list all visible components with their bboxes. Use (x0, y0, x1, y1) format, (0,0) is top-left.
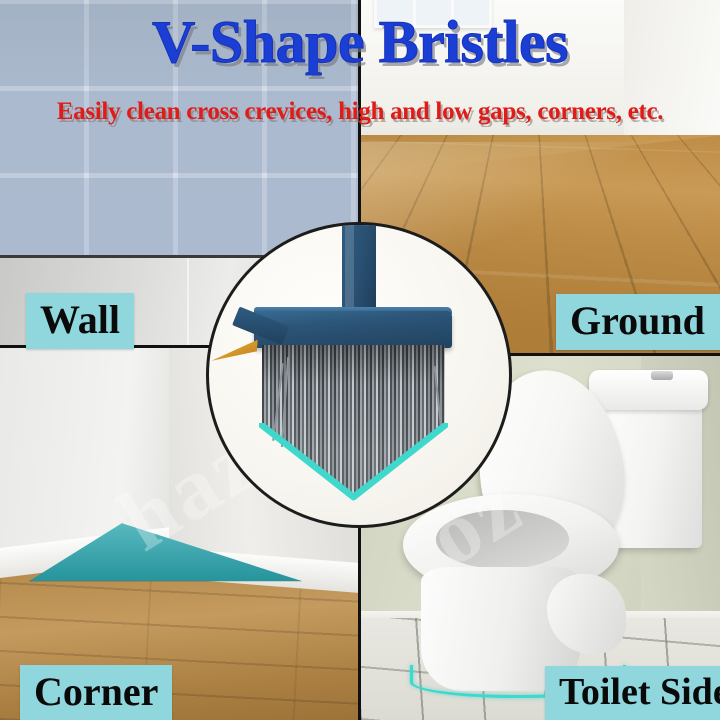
product-closeup-circle (206, 222, 512, 528)
toilet-bowl-interior (436, 510, 569, 568)
label-ground: Ground (556, 294, 720, 350)
page-subtitle: Easily clean cross crevices, high and lo… (0, 98, 720, 126)
label-corner: Corner (20, 665, 172, 720)
label-wall: Wall (26, 293, 134, 349)
label-toilet-side: Toilet Side (545, 666, 720, 720)
v-shape-outline-icon (259, 423, 448, 501)
product-infographic: haz oz V-Shape Bristles Easily clean cro… (0, 0, 720, 720)
flush-button-icon (651, 371, 673, 380)
toilet-tank-lid (589, 370, 708, 410)
brush-scraper-tip (211, 336, 258, 365)
page-title: V-Shape Bristles (0, 8, 720, 77)
